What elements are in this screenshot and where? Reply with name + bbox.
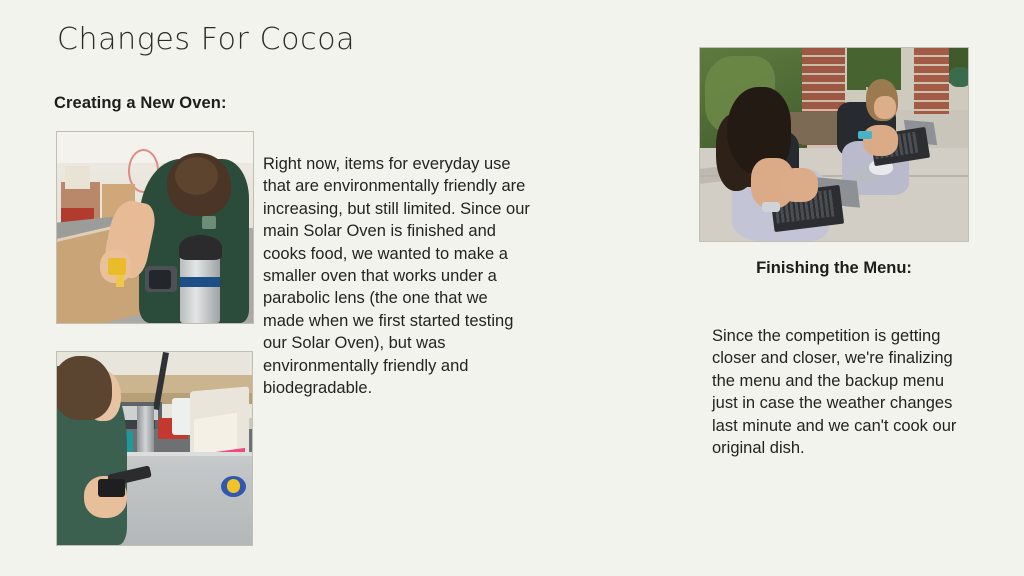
slide-canvas: Changes For Cocoa Creating a New Oven:	[0, 0, 1024, 576]
right-body-text: Since the competition is getting closer …	[712, 325, 970, 459]
brick-pillar	[914, 48, 949, 114]
photo-oven-cutting	[56, 351, 253, 546]
right-section-heading: Finishing the Menu:	[699, 259, 969, 278]
tape-measure	[108, 258, 126, 275]
left-body-text: Right now, items for everyday use that a…	[263, 153, 531, 399]
page-title: Changes For Cocoa	[57, 22, 355, 57]
photo-oven-measuring	[56, 131, 254, 324]
left-section-heading: Creating a New Oven:	[54, 94, 227, 113]
photo-menu-laptops	[699, 47, 969, 242]
